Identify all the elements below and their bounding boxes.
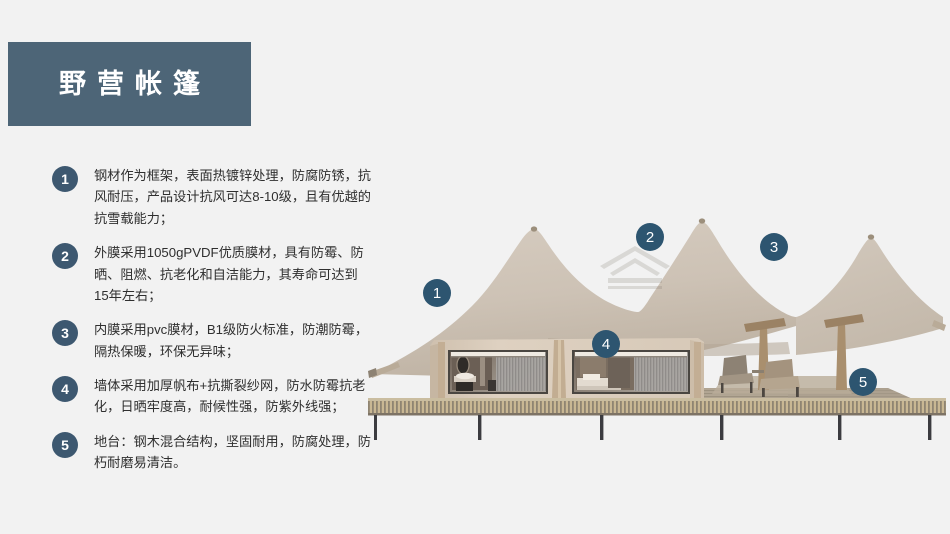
image-marker-5: 5 bbox=[849, 368, 877, 396]
bathroom-cabinet bbox=[456, 382, 473, 391]
bed-pillow bbox=[583, 374, 600, 380]
deck-leg bbox=[478, 415, 481, 440]
slide-page: 野营帐篷 1 钢材作为框架，表面热镀锌处理，防腐防锈，抗风耐压，产品设计抗风可达… bbox=[0, 0, 950, 534]
bathroom-mirror bbox=[457, 356, 469, 374]
canopy-peak-left bbox=[531, 226, 537, 231]
feature-list: 1 钢材作为框架，表面热镀锌处理，防腐防锈，抗风耐压，产品设计抗风可达8-10级… bbox=[52, 165, 372, 487]
feature-text-4: 墙体采用加厚帆布+抗撕裂纱网，防水防霉抗老化，日晒牢度高，耐候性强，防紫外线强； bbox=[94, 375, 372, 418]
list-item: 2 外膜采用1050gPVDF优质膜材，具有防霉、防晒、阻燃、抗老化和自洁能力，… bbox=[52, 242, 372, 306]
feature-badge-1: 1 bbox=[52, 166, 78, 192]
window-valance bbox=[451, 352, 545, 357]
feature-text-2: 外膜采用1050gPVDF优质膜材，具有防霉、防晒、阻燃、抗老化和自洁能力，其寿… bbox=[94, 242, 372, 306]
feature-text-3: 内膜采用pvc膜材，B1级防火标准，防潮防霉，隔热保暖，环保无异味； bbox=[94, 319, 372, 362]
image-marker-2: 2 bbox=[636, 223, 664, 251]
window-curtain bbox=[496, 353, 546, 391]
list-item: 5 地台：钢木混合结构，坚固耐用，防腐处理，防朽耐磨易清洁。 bbox=[52, 431, 372, 474]
bathroom-bin bbox=[488, 380, 497, 391]
window-curtain bbox=[634, 353, 688, 391]
canopy-peak-center bbox=[699, 218, 705, 223]
window-bedroom bbox=[572, 350, 690, 394]
side-table bbox=[752, 370, 764, 373]
feature-text-5: 地台：钢木混合结构，坚固耐用，防腐处理，防朽耐磨易清洁。 bbox=[94, 431, 372, 474]
feature-badge-2: 2 bbox=[52, 243, 78, 269]
list-item: 1 钢材作为框架，表面热镀锌处理，防腐防锈，抗风耐压，产品设计抗风可达8-10级… bbox=[52, 165, 372, 229]
deck-leg bbox=[928, 415, 931, 440]
list-item: 3 内膜采用pvc膜材，B1级防火标准，防潮防霉，隔热保暖，环保无异味； bbox=[52, 319, 372, 362]
list-item: 4 墙体采用加厚帆布+抗撕裂纱网，防水防霉抗老化，日晒牢度高，耐候性强，防紫外线… bbox=[52, 375, 372, 418]
deck-leg bbox=[720, 415, 723, 440]
image-marker-4: 4 bbox=[592, 330, 620, 358]
corner-post-highlight bbox=[558, 340, 561, 398]
image-marker-1: 1 bbox=[423, 279, 451, 307]
deck-leg bbox=[374, 415, 377, 440]
feature-badge-4: 4 bbox=[52, 376, 78, 402]
feature-text-1: 钢材作为框架，表面热镀锌处理，防腐防锈，抗风耐压，产品设计抗风可达8-10级，且… bbox=[94, 165, 372, 229]
canopy-peak-right bbox=[868, 234, 874, 239]
canopy-right-wing bbox=[796, 238, 943, 355]
window-bathroom bbox=[448, 350, 548, 394]
feature-badge-5: 5 bbox=[52, 432, 78, 458]
tent-illustration: 1 2 3 4 5 bbox=[368, 150, 946, 440]
wall-post-left bbox=[438, 342, 445, 398]
feature-badge-3: 3 bbox=[52, 320, 78, 346]
deck-edge-band-bottom bbox=[368, 413, 946, 416]
image-marker-3: 3 bbox=[760, 233, 788, 261]
page-title-banner: 野营帐篷 bbox=[8, 42, 251, 126]
deck-leg bbox=[600, 415, 603, 440]
page-title: 野营帐篷 bbox=[48, 71, 211, 98]
tent-graphic bbox=[368, 150, 946, 440]
window-valance bbox=[575, 352, 687, 357]
deck-edge-band bbox=[368, 400, 946, 414]
deck-edge-band-top bbox=[368, 398, 946, 401]
wall-post-right bbox=[694, 342, 701, 398]
deck-leg bbox=[838, 415, 841, 440]
